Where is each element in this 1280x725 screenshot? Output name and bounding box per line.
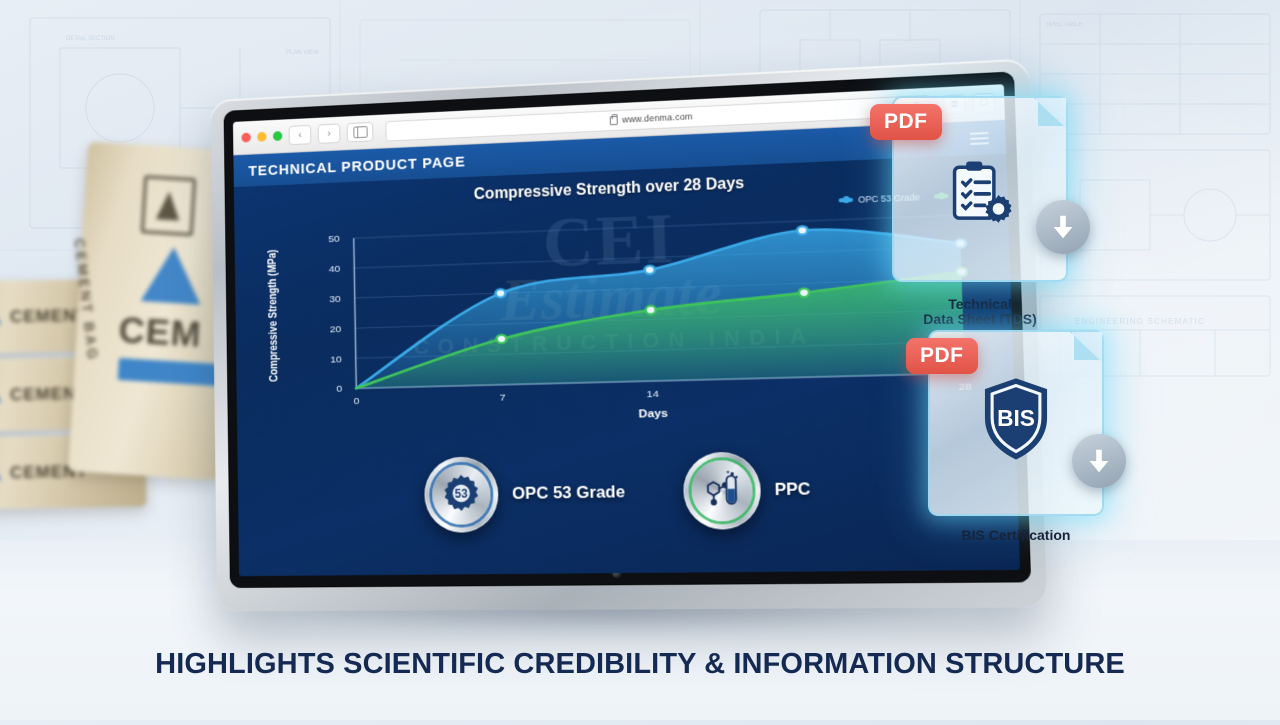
footer-headline: HIGHLIGHTS SCIENTIFIC CREDIBILITY & INFO… (0, 648, 1280, 681)
download-arrow-icon[interactable] (1072, 434, 1126, 488)
svg-text:PLAN VIEW: PLAN VIEW (286, 50, 319, 56)
document-card-tds[interactable]: PDF Technical Data Sheet (TDS) (892, 96, 1068, 282)
y-tick-label: 0 (336, 385, 343, 395)
molecule-testtube-icon (699, 468, 745, 513)
svg-text:SPEC TABLE: SPEC TABLE (1046, 22, 1082, 28)
pdf-badge: PDF (906, 338, 978, 374)
cement-bag-stack: CEMENT CEMENT CEMENT CEM CEMENT BAG (0, 150, 226, 470)
page-fold-icon (1070, 332, 1102, 362)
y-tick-label: 30 (329, 295, 341, 305)
page-fold-icon (1034, 98, 1066, 128)
y-tick-label: 20 (330, 325, 342, 335)
shield-text: BIS (997, 405, 1035, 431)
download-arrow-icon[interactable] (1036, 200, 1090, 254)
svg-text:DETAIL SECTION: DETAIL SECTION (66, 36, 115, 42)
caption-line-1: Technical (875, 297, 1085, 313)
badge-number: 53 (455, 487, 469, 500)
gear-icon: 53 (439, 472, 484, 518)
y-axis-title: Compressive Strength (MPa) (266, 249, 281, 382)
gridline (355, 278, 962, 298)
gridline (354, 247, 960, 269)
legend-swatch-icon (838, 198, 853, 203)
caption-line-2: Data Sheet (TDS) (875, 312, 1085, 328)
minimize-window-button[interactable] (257, 132, 266, 142)
x-tick-label: 14 (647, 390, 660, 400)
data-point[interactable] (799, 288, 810, 297)
manufacturer-logo-icon (141, 175, 196, 236)
data-point[interactable] (496, 335, 506, 344)
close-window-button[interactable] (241, 133, 250, 143)
bag-triangle-icon (0, 387, 1, 402)
badge-opc[interactable]: 53 OPC 53 Grade (424, 454, 626, 533)
svg-text:ENGINEERING SCHEMATIC: ENGINEERING SCHEMATIC (1075, 317, 1205, 326)
data-point[interactable] (495, 289, 505, 298)
bis-shield-icon: BIS (977, 376, 1055, 467)
forward-button[interactable]: › (318, 123, 341, 143)
chevron-right-icon: › (327, 128, 331, 140)
bag-triangle-icon (0, 465, 1, 480)
document-caption-tds: Technical Data Sheet (TDS) (875, 297, 1085, 328)
y-axis (354, 238, 356, 388)
data-point[interactable] (797, 226, 808, 235)
document-card-bis[interactable]: PDF BIS BIS Certification (928, 330, 1104, 516)
chevron-left-icon: ‹ (298, 129, 302, 141)
cement-bag-front-text: CEM (118, 312, 203, 353)
x-tick-label: 0 (353, 397, 360, 407)
bag-color-band (118, 358, 227, 387)
caption-line-1: BIS Certification (911, 528, 1121, 544)
x-axis-title: Days (638, 409, 668, 421)
clipboard-gear-icon (943, 158, 1017, 237)
data-point[interactable] (645, 266, 655, 275)
x-tick-label: 7 (500, 393, 506, 403)
gear-53-icon: 53 (424, 456, 499, 533)
bag-triangle-icon (0, 309, 1, 324)
badge-label-ppc: PPC (774, 479, 810, 500)
y-tick-label: 50 (328, 235, 340, 245)
address-bar[interactable]: www.denma.com ↻ (385, 94, 930, 141)
document-caption-bis: BIS Certification (911, 528, 1121, 544)
data-point[interactable] (645, 306, 655, 315)
y-tick-label: 10 (330, 355, 342, 365)
maximize-window-button[interactable] (273, 131, 282, 141)
camera-icon (612, 569, 621, 578)
y-tick-label: 40 (329, 265, 341, 275)
sidebar-toggle-button[interactable] (347, 122, 374, 143)
bag-triangle-icon (141, 245, 204, 305)
gridline (354, 215, 960, 238)
product-badges: 53 OPC 53 Grade (238, 447, 1019, 535)
lock-icon (610, 116, 618, 125)
back-button[interactable]: ‹ (289, 125, 312, 145)
page-title: TECHNICAL PRODUCT PAGE (248, 153, 465, 179)
badge-label-opc: OPC 53 Grade (512, 482, 625, 504)
url-text: www.denma.com (622, 111, 693, 124)
pdf-badge: PDF (870, 104, 942, 140)
badge-ppc[interactable]: PPC (682, 451, 811, 530)
chemistry-flask-icon (682, 452, 761, 530)
sidebar-icon (353, 126, 367, 138)
